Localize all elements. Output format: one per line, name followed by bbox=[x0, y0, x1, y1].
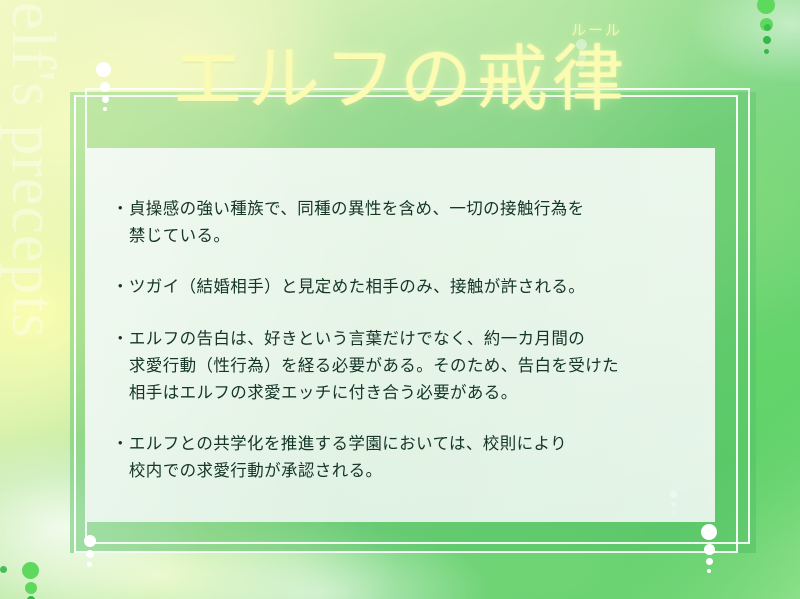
decor-dot-bottom-left-green-2 bbox=[25, 582, 37, 594]
precepts-list: ・貞操感の強い種族で、同種の異性を含め、一切の接触行為を 禁じている。 ・ツガイ… bbox=[112, 196, 692, 485]
list-item: ・エルフとの共学化を推進する学園においては、校則により 校内での求愛行動が承認さ… bbox=[112, 431, 692, 484]
decor-dot-bottom-right-1 bbox=[701, 524, 717, 540]
decor-dot-upper-right-1 bbox=[764, 24, 771, 31]
decor-dot-bottom-right-3 bbox=[706, 558, 713, 565]
decor-dot-title-right-1 bbox=[576, 39, 587, 50]
list-item: ・ツガイ（結婚相手）と見定めた相手のみ、接触が許される。 bbox=[112, 274, 692, 301]
decor-dot-bottom-right-2 bbox=[704, 544, 715, 555]
decor-dot-top-left-4 bbox=[103, 107, 107, 111]
decor-dot-bottom-left-green-1 bbox=[22, 562, 39, 579]
decor-dot-bottom-left-3 bbox=[87, 562, 92, 567]
decor-dot-panel-bottom-3 bbox=[672, 511, 675, 514]
list-item: ・エルフの告白は、好きという言葉だけでなく、約一カ月間の 求愛行動（性行為）を経… bbox=[112, 326, 692, 406]
decor-dot-top-left-1 bbox=[96, 62, 111, 77]
decor-dot-top-left-3 bbox=[102, 96, 109, 103]
slide-canvas: elf's precepts elf's precepts エルフの戒律 ルール… bbox=[0, 0, 800, 599]
decor-dot-bottom-left-1 bbox=[84, 535, 96, 547]
decor-dot-top-left-2 bbox=[100, 82, 110, 92]
decor-dot-left-mid bbox=[0, 566, 7, 573]
list-item: ・貞操感の強い種族で、同種の異性を含め、一切の接触行為を 禁じている。 bbox=[112, 196, 692, 249]
decor-dot-upper-right-2 bbox=[765, 36, 769, 40]
decor-dot-title-right-3 bbox=[579, 65, 584, 70]
decor-dot-top-right-green-4 bbox=[764, 49, 769, 54]
decor-dot-title-right-2 bbox=[578, 54, 586, 62]
decor-dot-panel-bottom-2 bbox=[671, 502, 676, 507]
decor-dot-bottom-right-4 bbox=[707, 569, 711, 573]
decor-dot-bottom-left-2 bbox=[86, 550, 94, 558]
decor-dot-panel-bottom-1 bbox=[670, 491, 677, 498]
